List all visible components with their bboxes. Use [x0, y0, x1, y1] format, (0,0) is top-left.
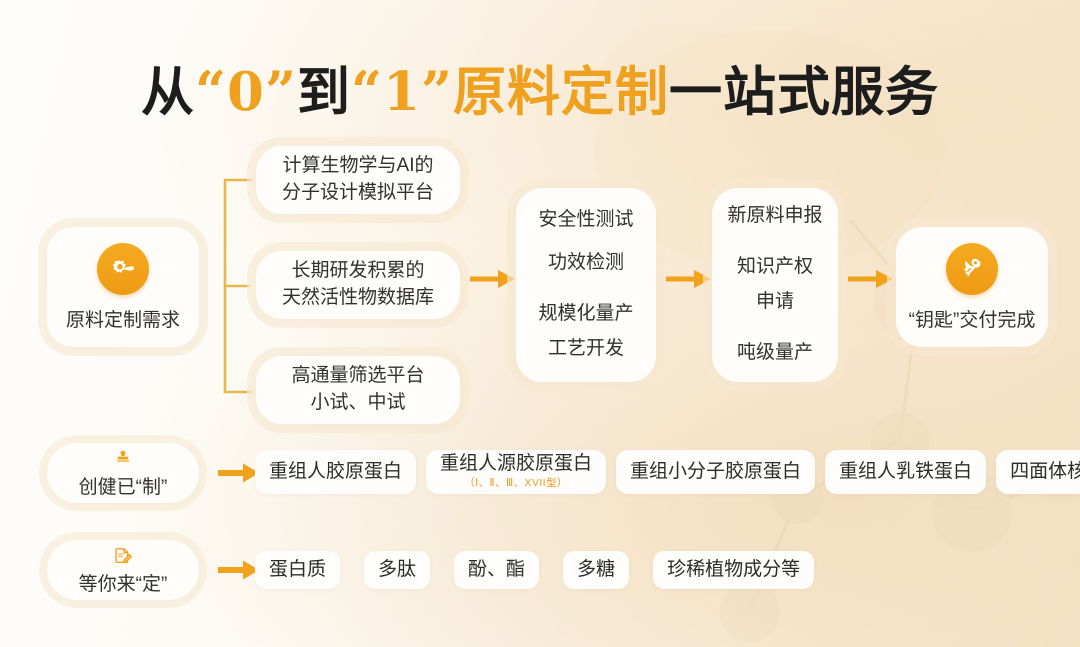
chip-existing-3[interactable]: 重组小分子胶原蛋白	[616, 450, 815, 494]
chip-custom-1[interactable]: 蛋白质	[255, 551, 340, 589]
chip-existing-5[interactable]: 四面体核酸	[996, 450, 1080, 494]
chip-existing-2-text: 重组人源胶原蛋白	[440, 454, 592, 475]
title-zero: 0	[227, 61, 265, 123]
arrow-right-row-2	[218, 559, 260, 581]
platform-3-line-1: 高通量筛选平台	[291, 363, 424, 390]
arrow-right-1	[470, 268, 516, 290]
title-quote-close-1: ”	[265, 59, 297, 123]
flow-card-platform-2[interactable]: 长期研发积累的 天然活性物数据库	[256, 251, 460, 319]
chip-existing-4[interactable]: 重组人乳铁蛋白	[825, 450, 986, 494]
chip-custom-3[interactable]: 酚、酯	[454, 551, 539, 589]
flow-node-start[interactable]: 原料定制需求	[47, 227, 199, 347]
flow-node-end[interactable]: “钥匙”交付完成	[896, 227, 1048, 347]
title-part-2: 到	[297, 61, 351, 123]
title-part-1: 从	[141, 61, 195, 123]
row-label-custom-text: 等你来“定”	[79, 569, 168, 596]
flow-node-start-label: 原料定制需求	[66, 305, 180, 332]
flow-card-testing[interactable]: 安全性测试 功效检测 规模化量产 工艺开发	[516, 188, 656, 382]
flow-card-platform-1[interactable]: 计算生物学与AI的 分子设计模拟平台	[256, 146, 460, 214]
chip-existing-4-text: 重组人乳铁蛋白	[839, 462, 972, 483]
flow-node-end-label: “钥匙”交付完成	[909, 305, 1036, 332]
registration-line-4: 吨级量产	[737, 340, 813, 367]
chip-existing-2[interactable]: 重组人源胶原蛋白 （Ⅰ、Ⅱ、Ⅲ、XVII型）	[426, 450, 606, 494]
chip-custom-2-text: 多肽	[378, 560, 416, 581]
registration-line-2: 知识产权	[737, 254, 813, 281]
testing-line-4: 工艺开发	[538, 336, 633, 363]
chip-existing-5-text: 四面体核酸	[1010, 462, 1080, 483]
title-quote-open-2: “	[351, 59, 383, 123]
page-title: 从“0”到“1”原料定制一站式服务	[0, 50, 1080, 126]
title-quote-close-2: ”	[421, 59, 453, 123]
platform-1-line-1: 计算生物学与AI的	[283, 153, 434, 180]
bracket-connector	[215, 178, 255, 394]
title-quote-open-1: “	[195, 59, 227, 123]
title-highlight: 原料定制	[453, 61, 669, 123]
chip-custom-4[interactable]: 多糖	[563, 551, 629, 589]
stamp-icon	[113, 448, 133, 470]
arrow-right-row-1	[218, 462, 260, 484]
row-label-existing[interactable]: 创健已“制”	[47, 443, 199, 503]
flow-card-registration[interactable]: 新原料申报 知识产权 申请 吨级量产	[712, 188, 838, 382]
title-part-3: 一站式服务	[669, 61, 939, 123]
platform-1-line-2: 分子设计模拟平台	[282, 180, 434, 207]
arrow-right-3	[848, 268, 894, 290]
platform-2-line-2: 天然活性物数据库	[282, 285, 434, 312]
chip-custom-2[interactable]: 多肽	[364, 551, 430, 589]
poster-canvas: 从“0”到“1”原料定制一站式服务 原料定制需求 计算生物学与AI的 分子设计模…	[0, 0, 1080, 647]
platform-2-line-1: 长期研发积累的	[291, 258, 424, 285]
doc-pen-icon	[113, 545, 133, 567]
row-label-custom[interactable]: 等你来“定”	[47, 540, 199, 600]
flow-card-platform-3[interactable]: 高通量筛选平台 小试、中试	[256, 356, 460, 424]
chip-existing-3-text: 重组小分子胶原蛋白	[630, 462, 801, 483]
wrench-key-icon	[946, 243, 998, 295]
testing-line-1: 安全性测试	[538, 207, 633, 234]
registration-line-1: 新原料申报	[727, 203, 822, 230]
chip-existing-1[interactable]: 重组人胶原蛋白	[255, 450, 416, 494]
chip-row-custom: 蛋白质 多肽 酚、酯 多糖 珍稀植物成分等	[255, 551, 814, 589]
chip-custom-5[interactable]: 珍稀植物成分等	[653, 551, 814, 589]
gear-key-icon	[97, 243, 149, 295]
platform-3-line-2: 小试、中试	[310, 390, 405, 417]
title-one: 1	[383, 61, 421, 123]
chip-existing-2-subtext: （Ⅰ、Ⅱ、Ⅲ、XVII型）	[464, 475, 568, 490]
arrow-right-2	[666, 268, 712, 290]
chip-existing-1-text: 重组人胶原蛋白	[269, 462, 402, 483]
chip-custom-1-text: 蛋白质	[269, 560, 326, 581]
chip-custom-4-text: 多糖	[577, 560, 615, 581]
testing-line-3: 规模化量产	[538, 301, 633, 328]
chip-custom-5-text: 珍稀植物成分等	[667, 560, 800, 581]
row-label-existing-text: 创健已“制”	[79, 472, 168, 499]
registration-line-3: 申请	[737, 289, 813, 316]
chip-custom-3-text: 酚、酯	[468, 560, 525, 581]
chip-row-existing: 重组人胶原蛋白 重组人源胶原蛋白 （Ⅰ、Ⅱ、Ⅲ、XVII型） 重组小分子胶原蛋白…	[255, 450, 1080, 494]
testing-line-2: 功效检测	[548, 250, 624, 277]
